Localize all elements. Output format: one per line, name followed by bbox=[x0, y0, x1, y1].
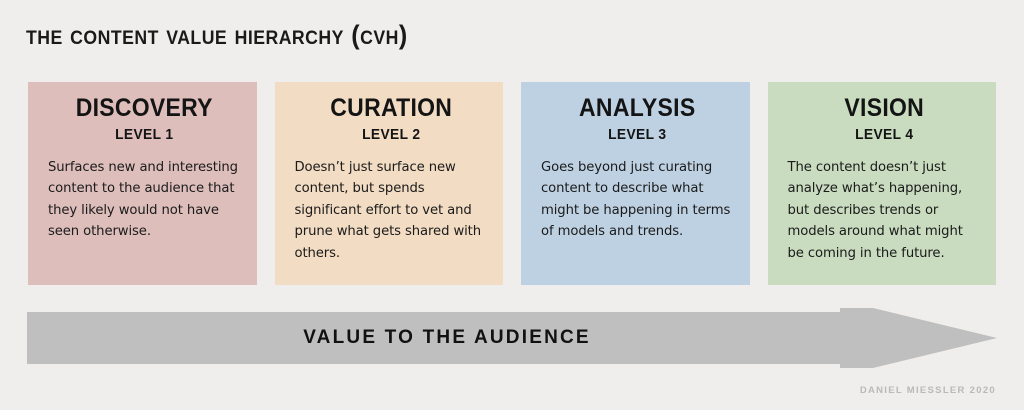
card-level-vision: LEVEL 4 bbox=[795, 126, 972, 143]
card-title-discovery: DISCOVERY bbox=[56, 94, 233, 123]
level-cards-row: DISCOVERY LEVEL 1 Surfaces new and inter… bbox=[28, 82, 996, 285]
card-level-discovery: LEVEL 1 bbox=[56, 126, 233, 143]
level-card-analysis: ANALYSIS LEVEL 3 Goes beyond just curati… bbox=[521, 82, 750, 285]
card-level-curation: LEVEL 2 bbox=[302, 126, 479, 143]
card-title-curation: CURATION bbox=[302, 94, 479, 123]
level-card-discovery: DISCOVERY LEVEL 1 Surfaces new and inter… bbox=[28, 82, 257, 285]
arrow-label: VALUE TO THE AUDIENCE bbox=[27, 308, 997, 368]
card-body-analysis: Goes beyond just curating content to des… bbox=[541, 157, 734, 243]
card-level-analysis: LEVEL 3 bbox=[549, 126, 726, 143]
card-title-vision: VISION bbox=[795, 94, 972, 123]
level-card-curation: CURATION LEVEL 2 Doesn’t just surface ne… bbox=[275, 82, 504, 285]
level-card-vision: VISION LEVEL 4 The content doesn’t just … bbox=[768, 82, 997, 285]
card-title-analysis: ANALYSIS bbox=[549, 94, 726, 123]
card-body-vision: The content doesn’t just analyze what’s … bbox=[788, 157, 981, 265]
card-body-discovery: Surfaces new and interesting content to … bbox=[48, 157, 241, 243]
infographic-canvas: The Content Value Hierarchy (CVH) DISCOV… bbox=[0, 0, 1024, 410]
page-title: The Content Value Hierarchy (CVH) bbox=[26, 20, 408, 51]
value-arrow: VALUE TO THE AUDIENCE bbox=[27, 308, 997, 368]
credit-text: DANIEL MIESSLER 2020 bbox=[860, 385, 996, 396]
card-body-curation: Doesn’t just surface new content, but sp… bbox=[295, 157, 488, 265]
